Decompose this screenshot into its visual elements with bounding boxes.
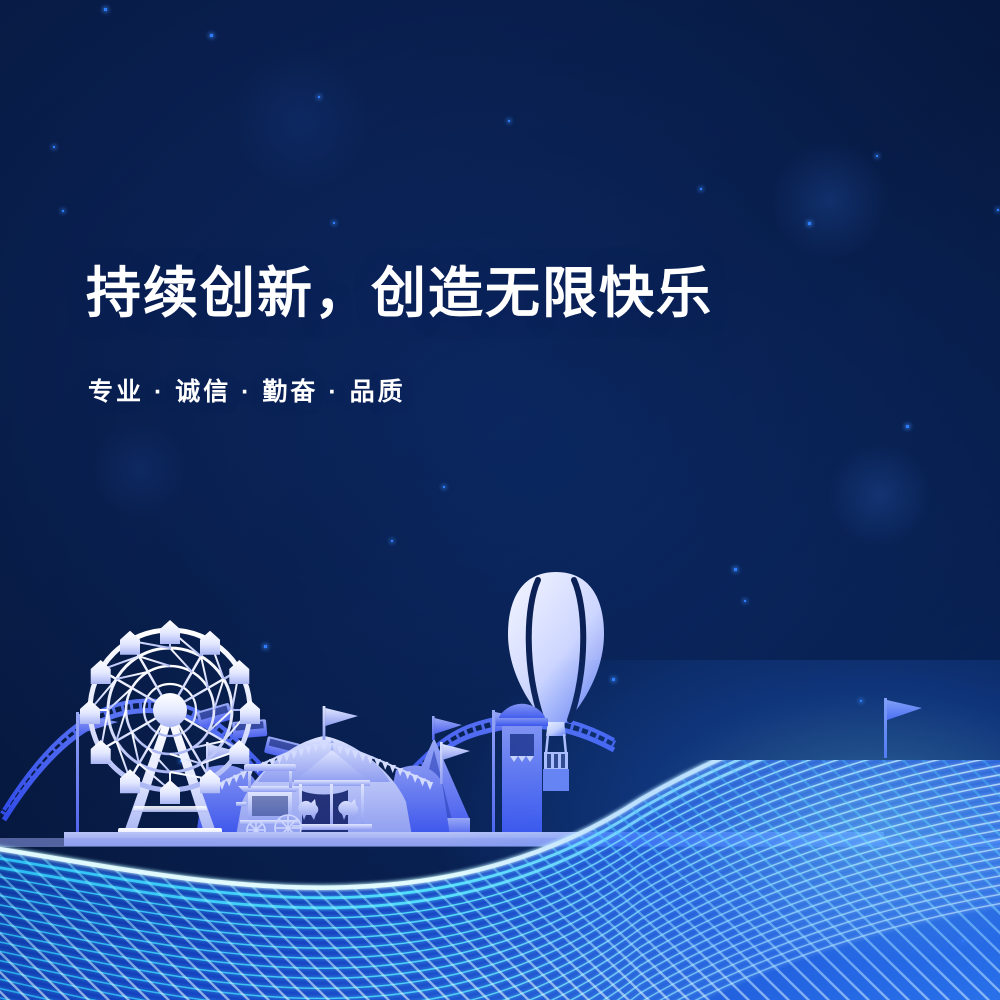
star-dot [62,210,64,212]
star-dot [906,425,909,428]
star-dot [104,8,107,11]
star-dot [53,146,55,148]
star-dot [700,188,702,190]
ferris-wheel-cabin [160,620,180,644]
star-dot [333,222,335,224]
star-dot [318,96,320,98]
star-dot [443,486,445,488]
banner-canvas: 持续创新，创造无限快乐 专业 · 诚信 · 勤奋 · 品质 [0,0,1000,1000]
ferris-wheel-cabin [240,700,260,724]
glowing-wave-mesh [0,760,1000,1000]
star-dot [997,209,999,211]
star-dot [210,34,213,37]
page-title: 持续创新，创造无限快乐 [86,264,713,323]
star-dot [876,155,878,157]
ferris-wheel-cabin [80,700,100,724]
star-dot [808,222,811,225]
star-dot [508,120,510,122]
page-subtitle: 专业 · 诚信 · 勤奋 · 品质 [88,372,406,408]
ferris-wheel-cabin [120,631,140,655]
ferris-wheel-cabin [200,631,220,655]
